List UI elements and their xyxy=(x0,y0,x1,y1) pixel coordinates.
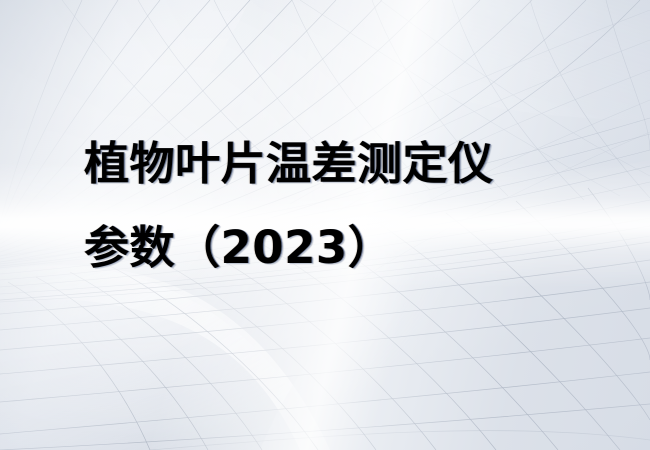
title-banner: 植物叶片温差测定仪 参数（2023） xyxy=(0,0,650,450)
page-title: 植物叶片温差测定仪 参数（2023） xyxy=(84,122,604,290)
title-line-1: 植物叶片温差测定仪 xyxy=(84,122,604,206)
title-line-2: 参数（2023） xyxy=(84,206,604,290)
